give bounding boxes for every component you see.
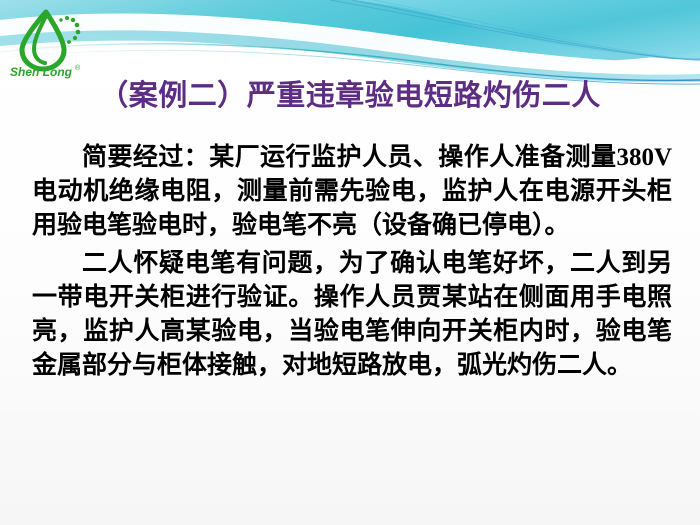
slide-body: 简要经过：某厂运行监护人员、操作人准备测量380V电动机绝缘电阻，测量前需先验电…: [32, 141, 672, 383]
logo-wordmark: Shen Long: [10, 65, 73, 79]
slide-title: （案例二）严重违章验电短路灼伤二人: [0, 78, 700, 114]
header-wave-banner: [0, 0, 700, 88]
body-paragraph: 二人怀疑电笔有问题，为了确认电笔好坏，二人到另一带电开关柜进行验证。操作人员贾某…: [32, 247, 672, 383]
body-paragraph: 简要经过：某厂运行监护人员、操作人准备测量380V电动机绝缘电阻，测量前需先验电…: [32, 141, 672, 243]
shen-long-logo: Shen Long ®: [8, 6, 94, 80]
registered-mark-icon: ®: [75, 64, 81, 72]
presentation-slide: Shen Long ® （案例二）严重违章验电短路灼伤二人 简要经过：某厂运行监…: [0, 0, 700, 525]
